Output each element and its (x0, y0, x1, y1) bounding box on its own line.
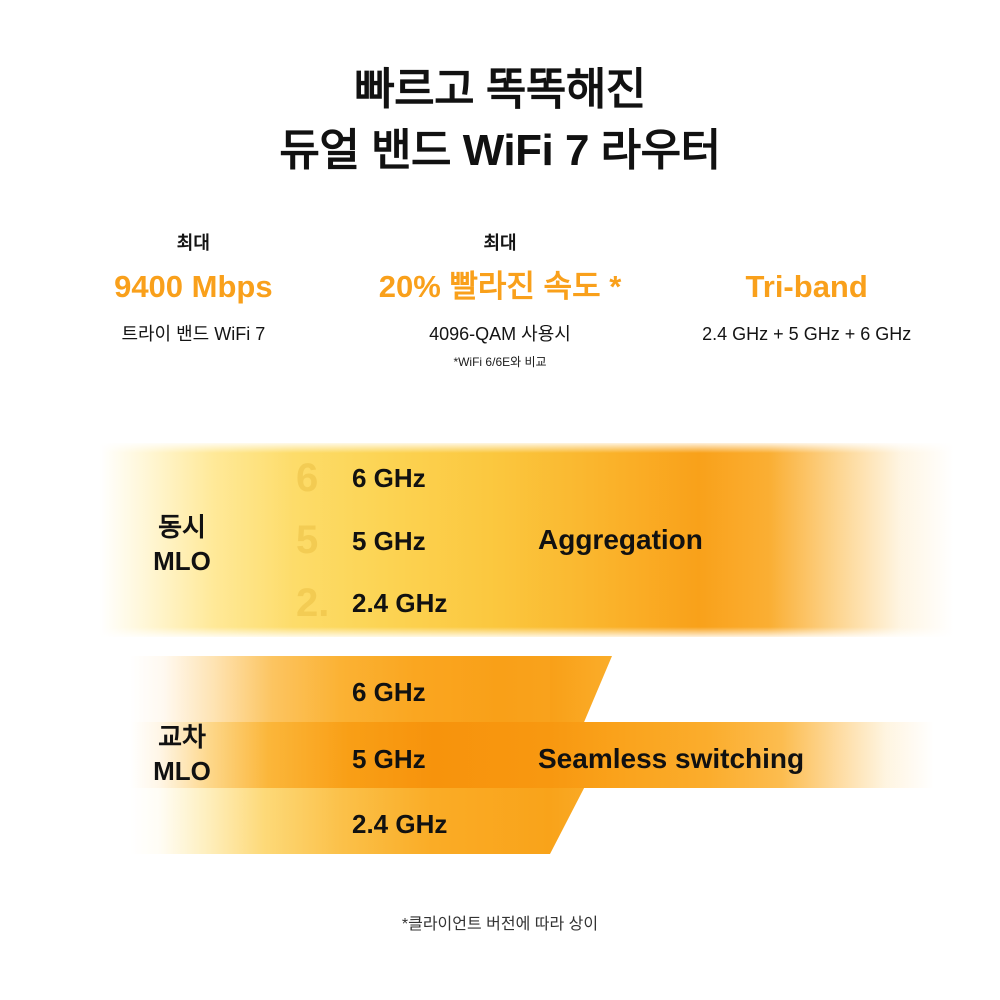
stat-eyebrow: 최대 (351, 232, 650, 256)
stat-eyebrow: 최대 (44, 232, 343, 256)
headline-line-1: 빠르고 똑똑해진 (0, 60, 1000, 121)
stat-value: Tri-band (657, 268, 956, 307)
stat-column-faster: 최대 20% 빨라진 속도 * 4096-QAM 사용시 *WiFi 6/6E와… (347, 232, 654, 371)
band-label-6ghz-cross: 6 GHz (352, 679, 426, 705)
band-label-5ghz-cross: 5 GHz (352, 746, 426, 772)
band-label-24ghz-cross: 2.4 GHz (352, 811, 447, 837)
simultaneous-mlo-label-line1: 동시 (158, 512, 206, 542)
cross-band-24ghz-taper (550, 788, 612, 854)
band-label-6ghz-simultaneous: 6 GHz (352, 465, 426, 491)
footnote: *클라이언트 버전에 따라 상이 (0, 910, 1000, 934)
stat-value: 9400 Mbps (44, 268, 343, 307)
cross-band-6ghz-taper (550, 656, 612, 722)
ghost-digit-6: 6 (296, 458, 342, 498)
page-title: 빠르고 똑똑해진 듀얼 밴드 WiFi 7 라우터 (0, 60, 1000, 181)
aggregation-caption: Aggregation (538, 526, 703, 554)
band-label-24ghz-simultaneous: 2.4 GHz (352, 590, 447, 616)
ghost-digit-5: 5 (296, 520, 342, 560)
cross-mlo-label-line2: MLO (112, 754, 252, 788)
cross-mlo-label-line1: 교차 (158, 722, 206, 752)
band-label-5ghz-simultaneous: 5 GHz (352, 528, 426, 554)
stat-note: *WiFi 6/6E와 비교 (351, 355, 650, 371)
stat-subtitle: 트라이 밴드 WiFi 7 (44, 323, 343, 346)
seamless-switching-caption: Seamless switching (538, 745, 804, 773)
cross-band-24ghz-shape (130, 788, 550, 854)
simultaneous-mlo-label: 동시 MLO (112, 510, 252, 579)
stat-columns: 최대 9400 Mbps 트라이 밴드 WiFi 7 최대 20% 빨라진 속도… (40, 232, 960, 371)
stat-subtitle: 2.4 GHz + 5 GHz + 6 GHz (657, 323, 956, 346)
headline-line-2: 듀얼 밴드 WiFi 7 라우터 (0, 121, 1000, 182)
simultaneous-mlo-label-line2: MLO (112, 544, 252, 578)
cross-mlo-label: 교차 MLO (112, 720, 252, 789)
cross-band-6ghz-shape (130, 656, 550, 722)
stat-column-speed: 최대 9400 Mbps 트라이 밴드 WiFi 7 (40, 232, 347, 355)
stat-value: 20% 빨라진 속도 * (351, 268, 650, 307)
ghost-digit-2: 2. (296, 583, 342, 623)
stat-subtitle: 4096-QAM 사용시 (351, 323, 650, 346)
stat-column-triband: Tri-band 2.4 GHz + 5 GHz + 6 GHz (653, 232, 960, 355)
